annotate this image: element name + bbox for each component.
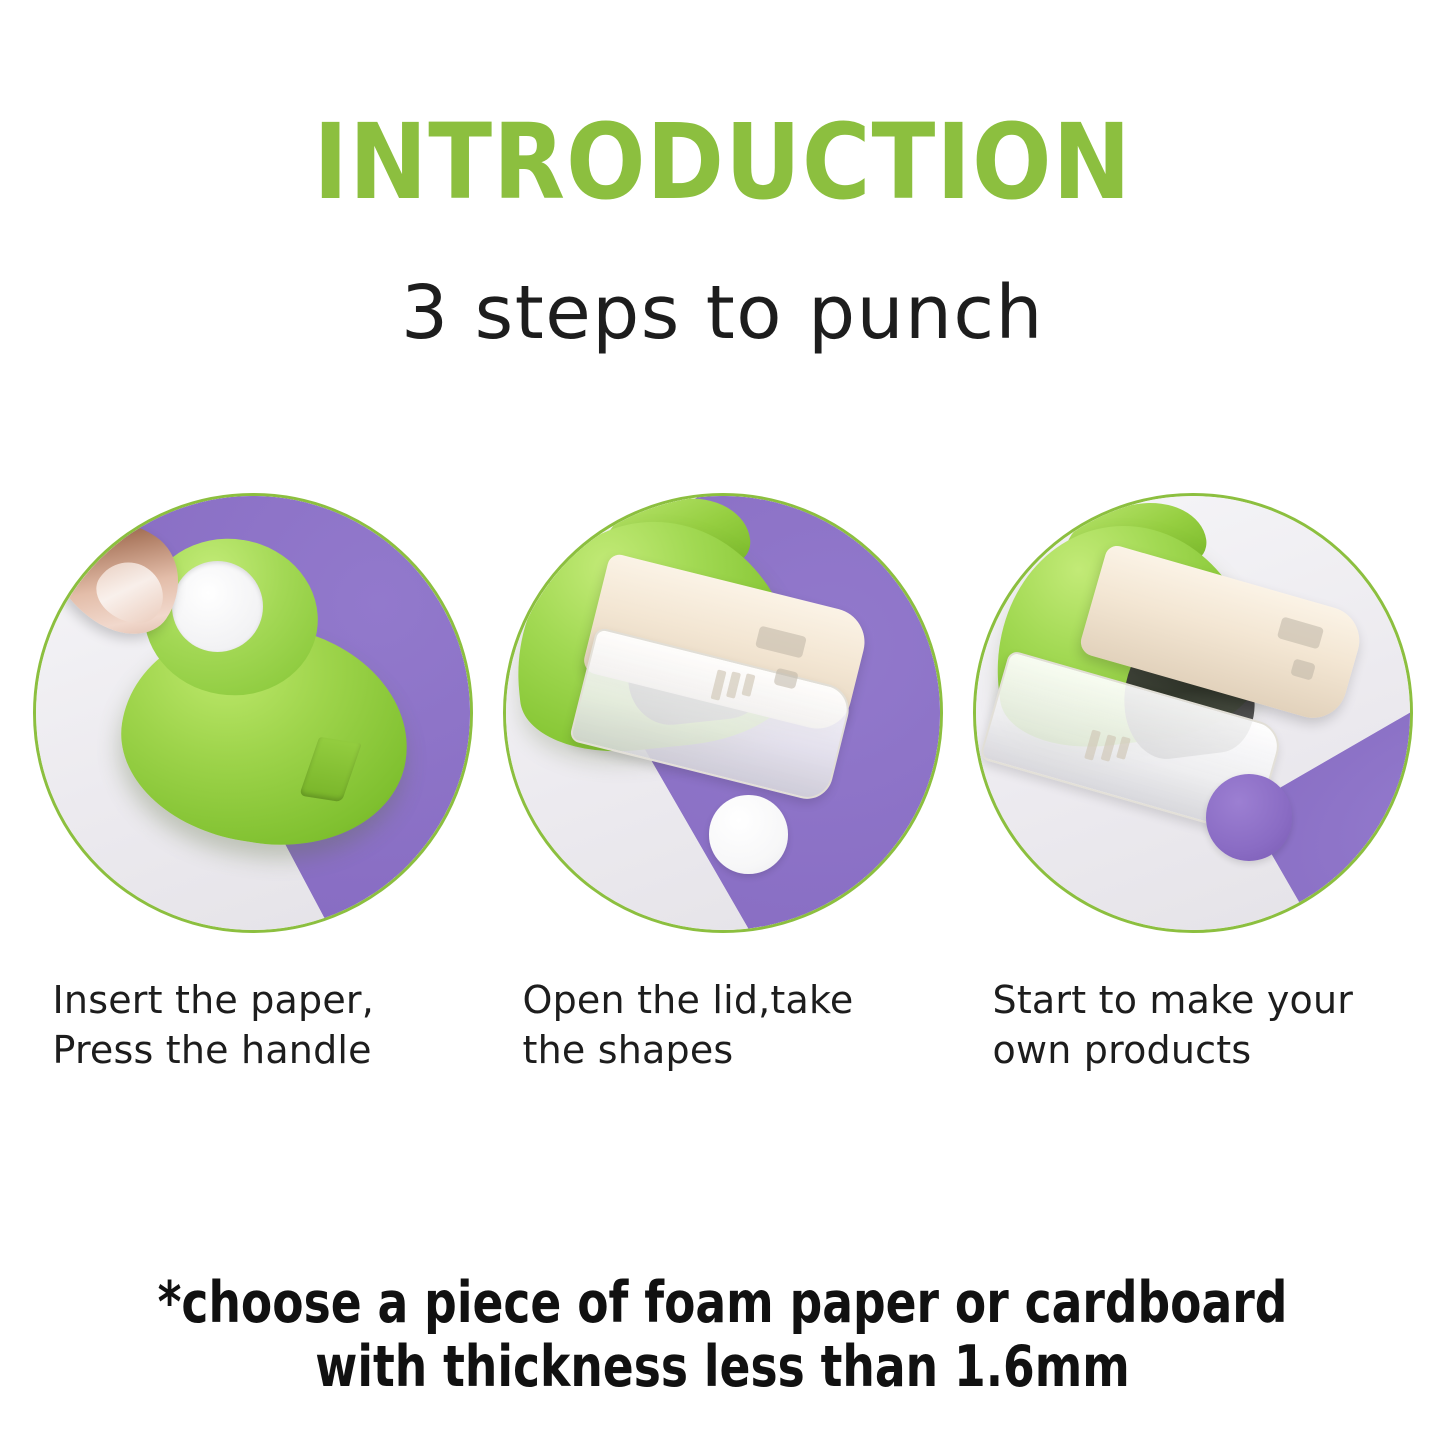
step-3: Start to make your own products	[965, 493, 1420, 1075]
introduction-infographic: INTRODUCTION 3 steps to punch	[0, 0, 1445, 1445]
page-title: INTRODUCTION	[72, 108, 1373, 217]
step-3-photo	[973, 493, 1413, 933]
steps-row: Insert the paper, Press the handle	[0, 493, 1445, 1075]
step-2-caption-line-1: Open the lid,take	[523, 978, 854, 1022]
step-1: Insert the paper, Press the handle	[25, 493, 480, 1075]
punched-white-circle	[709, 795, 787, 873]
step-2-caption-line-2: the shapes	[523, 1025, 923, 1075]
footer-note: *choose a piece of foam paper or cardboa…	[145, 1272, 1301, 1400]
step-3-caption: Start to make your own products	[993, 975, 1393, 1075]
step-2: Open the lid,take the shapes	[495, 493, 950, 1075]
thumbnail-highlight	[87, 550, 175, 635]
step-3-caption-line-2: own products	[993, 1025, 1393, 1075]
punch-handle-hole	[172, 561, 263, 652]
step-1-caption-line-1: Insert the paper,	[53, 978, 375, 1022]
step-1-caption: Insert the paper, Press the handle	[53, 975, 453, 1075]
footer-note-line-2: with thickness less than 1.6mm	[145, 1336, 1301, 1400]
footer-note-line-1: *choose a piece of foam paper or cardboa…	[158, 1270, 1288, 1336]
punched-purple-circle	[1206, 774, 1293, 861]
step-1-photo	[33, 493, 473, 933]
page-subtitle: 3 steps to punch	[0, 273, 1445, 354]
step-2-caption: Open the lid,take the shapes	[523, 975, 923, 1075]
step-1-caption-line-2: Press the handle	[53, 1025, 453, 1075]
step-3-caption-line-1: Start to make your	[993, 978, 1354, 1022]
step-2-photo	[503, 493, 943, 933]
